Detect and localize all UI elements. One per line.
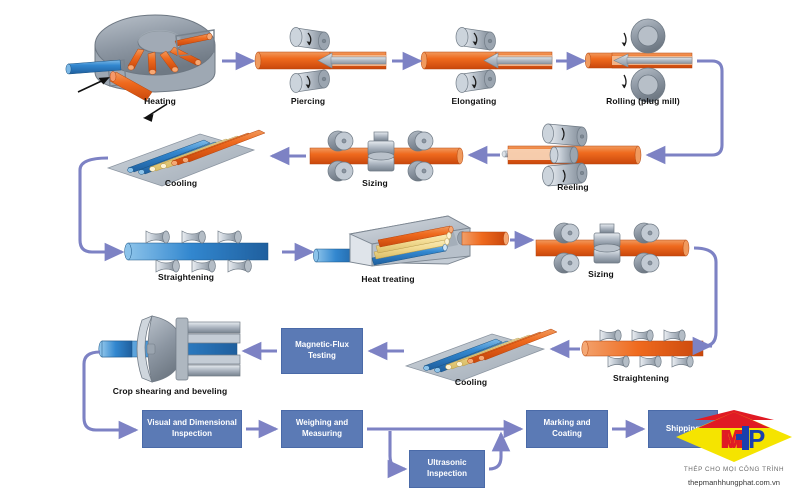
logo-letter-p: P	[748, 424, 765, 454]
process-box-weighing-measuring[interactable]: Weighing and Measuring	[281, 410, 363, 448]
connector-rolling-to-reeling	[648, 61, 722, 155]
caption-elongating: Elongating	[434, 96, 514, 106]
caption-straightening-1: Straightening	[136, 272, 236, 282]
caption-cooling-1: Cooling	[141, 178, 221, 188]
process-box-magnetic-flux-testing[interactable]: Magnetic-Flux Testing	[281, 328, 363, 374]
mhp-logo-mark: M M P M	[670, 408, 798, 466]
connector-cooling1-to-straightening1	[80, 158, 122, 252]
caption-rolling: Rolling (plug mill)	[583, 96, 703, 106]
logo-website: thepmanhhungphat.com.vn	[664, 478, 800, 487]
logo-tagline: THÉP CHO MỌI CÔNG TRÌNH	[670, 466, 798, 473]
process-box-visual-inspection[interactable]: Visual and Dimensional Inspection	[142, 410, 242, 448]
caption-sizing-1: Sizing	[335, 178, 415, 188]
caption-heat-treating: Heat treating	[338, 274, 438, 284]
caption-heating: Heating	[120, 96, 200, 106]
company-logo: M M P M THÉP CHO MỌI CÔNG TRÌNH thepmanh…	[670, 408, 798, 500]
connector-sizing2-to-straightening2	[694, 248, 716, 346]
connector-ultrasonic-to-main	[489, 434, 501, 469]
caption-reeling: Reeling	[533, 182, 613, 192]
caption-cooling-2: Cooling	[431, 377, 511, 387]
caption-sizing-2: Sizing	[561, 269, 641, 279]
process-box-ultrasonic-inspection[interactable]: Ultrasonic Inspection	[409, 450, 485, 488]
caption-straightening-2: Straightening	[591, 373, 691, 383]
caption-piercing: Piercing	[268, 96, 348, 106]
process-flow-diagram: Heating Piercing Elongating Rolling (plu…	[0, 0, 800, 500]
connector-weighing-to-ultrasonic	[390, 431, 405, 469]
caption-crop-shearing: Crop shearing and beveling	[100, 386, 240, 396]
process-box-marking-coating[interactable]: Marking and Coating	[526, 410, 608, 448]
